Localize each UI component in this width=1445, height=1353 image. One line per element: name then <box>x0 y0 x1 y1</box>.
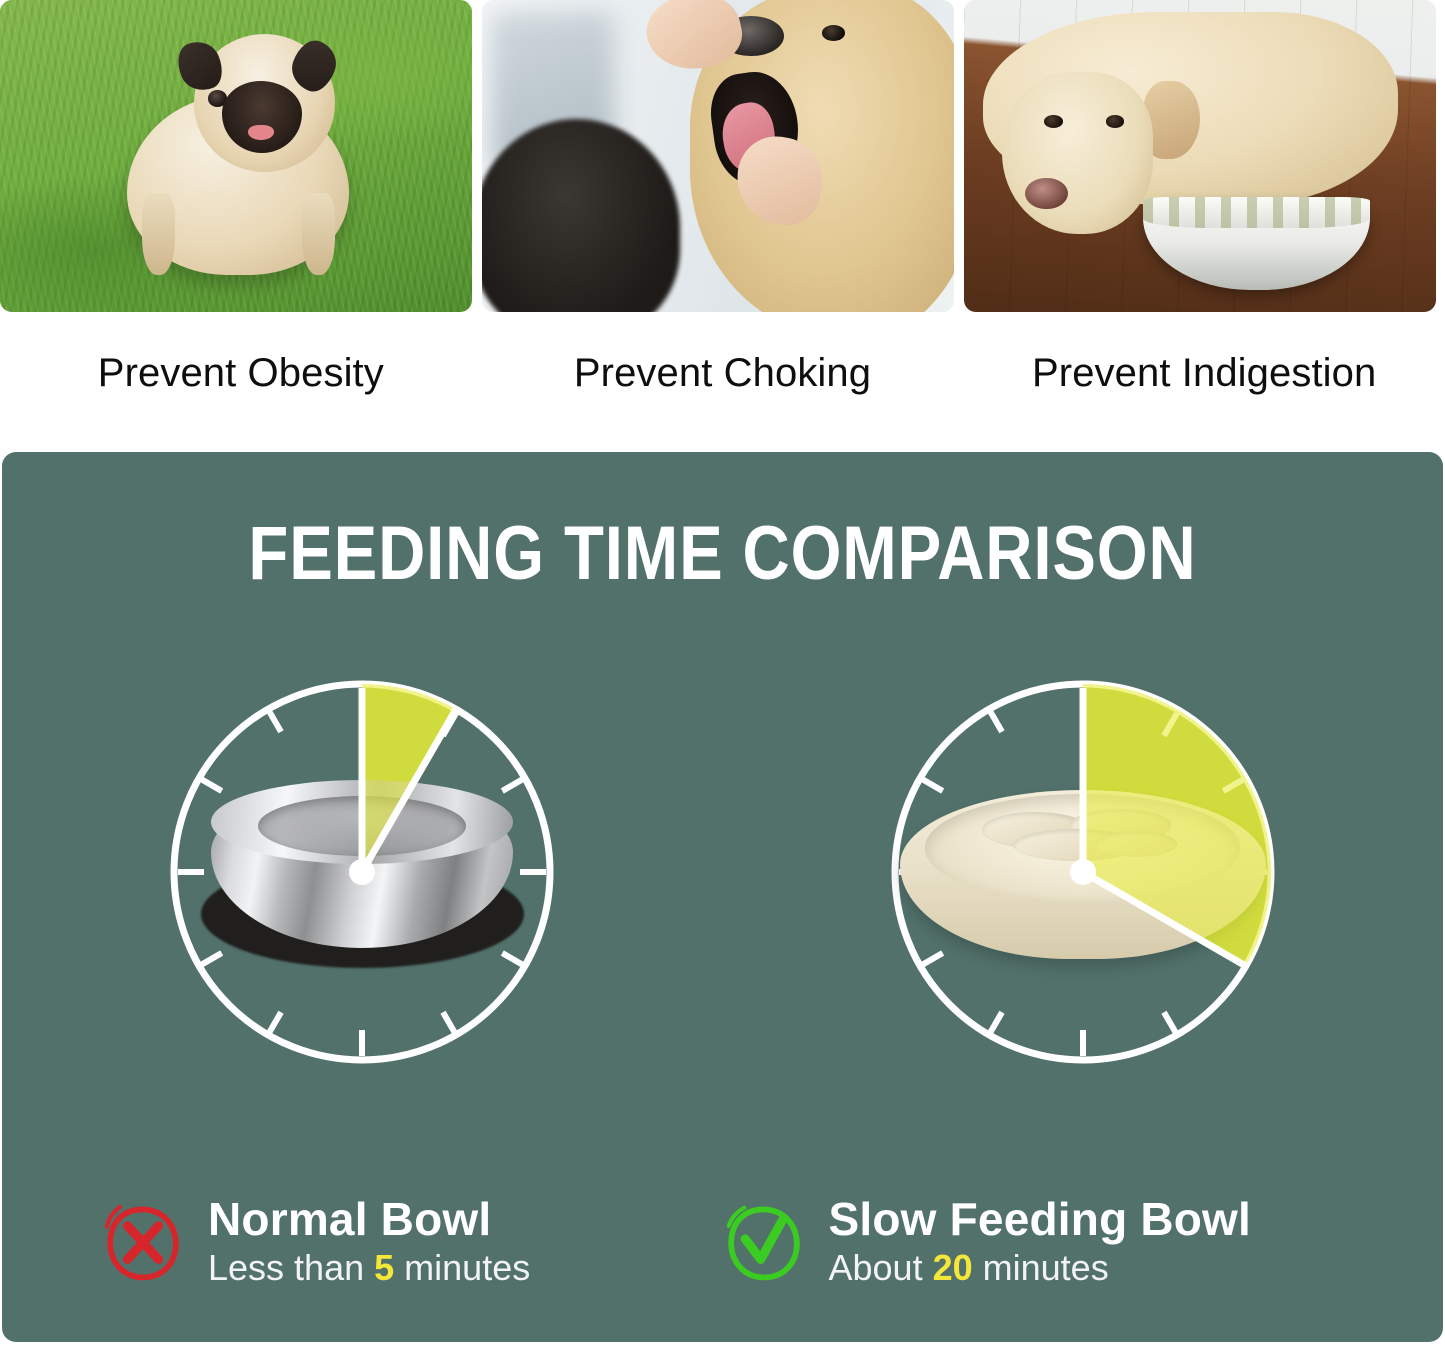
legend-normal-bowl-subtitle: Less than 5 minutes <box>208 1245 530 1290</box>
clock-comparison-row <box>2 648 1443 1096</box>
labrador-eye-right <box>1106 115 1125 127</box>
benefit-photo-obesity <box>0 0 472 312</box>
retriever-eye <box>822 25 846 41</box>
feeding-time-comparison-panel: FEEDING TIME COMPARISON <box>2 452 1443 1342</box>
caption-prevent-choking: Prevent Choking <box>482 336 964 410</box>
benefit-photo-indigestion <box>964 0 1436 312</box>
legend-slow-sub-suffix: minutes <box>973 1247 1109 1288</box>
floor-food-bowl-rim <box>1143 197 1370 229</box>
labrador-nose <box>1025 178 1067 209</box>
clock-center-hub <box>349 859 375 885</box>
legend-normal-bowl: Normal Bowl Less than 5 minutes <box>2 1196 723 1290</box>
legend-normal-bowl-title: Normal Bowl <box>208 1196 530 1243</box>
clock-slow-feeding-bowl <box>871 660 1295 1084</box>
legend-normal-sub-value: 5 <box>374 1247 394 1288</box>
legend-slow-bowl-text: Slow Feeding Bowl About 20 minutes <box>829 1196 1252 1290</box>
benefit-caption-row: Prevent Obesity Prevent Choking Prevent … <box>0 336 1445 410</box>
benefit-photo-row <box>0 0 1445 312</box>
clock-slow-bowl-wrap <box>723 648 1444 1096</box>
benefit-photo-choking <box>482 0 954 312</box>
red-cross-circle-icon <box>102 1202 184 1284</box>
legend-slow-bowl-title: Slow Feeding Bowl <box>829 1196 1252 1243</box>
comparison-legend: Normal Bowl Less than 5 minutes Slow Fee… <box>2 1196 1443 1290</box>
legend-normal-sub-prefix: Less than <box>208 1247 374 1288</box>
pug-leg-right <box>302 193 335 274</box>
legend-normal-bowl-text: Normal Bowl Less than 5 minutes <box>208 1196 530 1290</box>
legend-slow-sub-value: 20 <box>933 1247 973 1288</box>
legend-slow-bowl: Slow Feeding Bowl About 20 minutes <box>723 1196 1444 1290</box>
pug-leg-left <box>142 193 175 274</box>
caption-prevent-obesity: Prevent Obesity <box>0 336 482 410</box>
legend-normal-sub-suffix: minutes <box>394 1247 530 1288</box>
clock-hand-overlay-slow <box>871 660 1295 1084</box>
panel-title: FEEDING TIME COMPARISON <box>103 510 1342 597</box>
clock-normal-bowl <box>150 660 574 1084</box>
clock-hand-overlay-normal <box>150 660 574 1084</box>
legend-slow-bowl-subtitle: About 20 minutes <box>829 1245 1252 1290</box>
clock-center-hub <box>1070 859 1096 885</box>
caption-prevent-indigestion: Prevent Indigestion <box>963 336 1445 410</box>
legend-slow-sub-prefix: About <box>829 1247 933 1288</box>
clock-normal-bowl-wrap <box>2 648 723 1096</box>
green-check-circle-icon <box>723 1202 805 1284</box>
labrador-eye-left <box>1044 115 1063 127</box>
labrador-head <box>1002 72 1153 234</box>
